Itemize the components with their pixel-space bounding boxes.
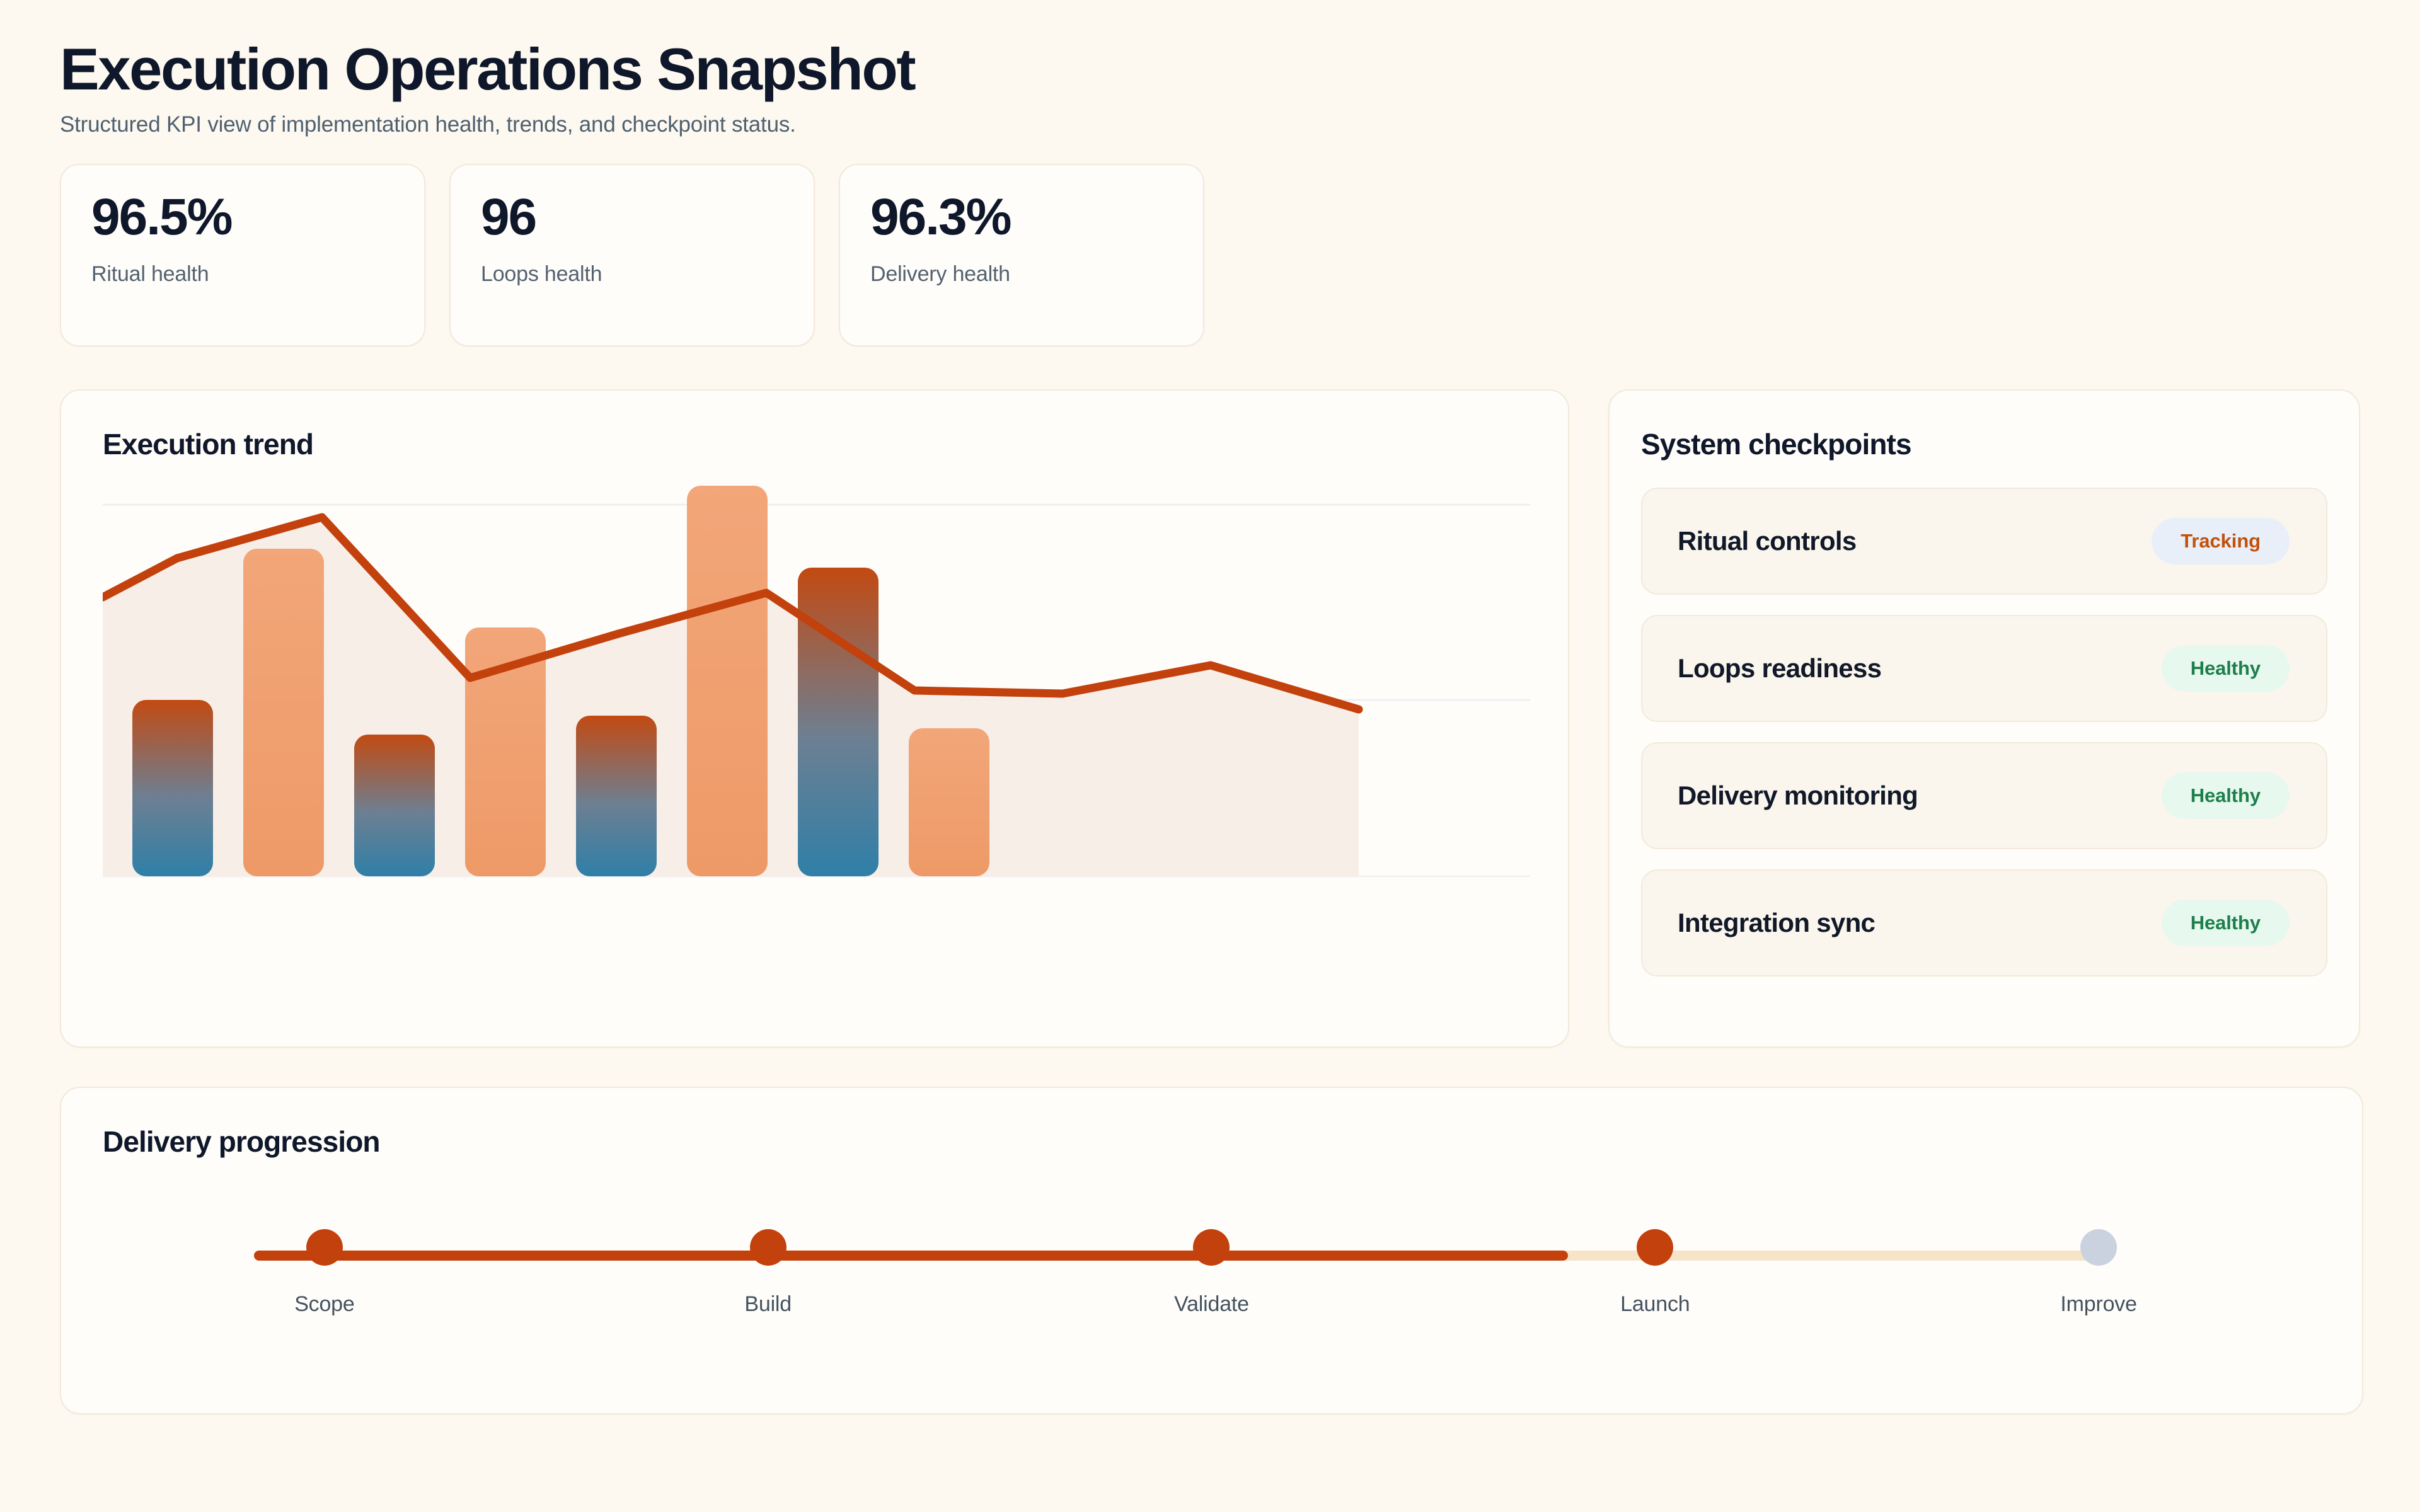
step-label: Build [744,1292,792,1317]
step-dot-pending-icon [2080,1229,2117,1266]
system-checkpoints-title: System checkpoints [1641,427,2327,461]
kpi-label: Delivery health [870,262,1173,287]
step-validate[interactable]: Validate [990,1229,1434,1317]
step-dot-complete-icon [306,1229,343,1266]
checkpoint-label: Integration sync [1678,908,1875,938]
status-badge: Tracking [2152,518,2290,564]
bar-3 [354,735,435,876]
status-badge: Healthy [2162,645,2290,692]
execution-trend-card: Execution trend [60,389,1569,1048]
page-title: Execution Operations Snapshot [60,38,2360,101]
step-label: Launch [1620,1292,1690,1317]
step-build[interactable]: Build [546,1229,990,1317]
kpi-value: 96.3% [870,192,1173,243]
kpi-value: 96 [481,192,783,243]
bar-5 [576,716,657,876]
bar-8 [909,728,989,876]
checkpoint-row-loops-readiness[interactable]: Loops readiness Healthy [1641,615,2327,722]
dashboard-page: Execution Operations Snapshot Structured… [0,0,2420,1414]
bar-7 [798,568,879,876]
execution-trend-title: Execution trend [103,427,1526,461]
checkpoint-list: Ritual controls Tracking Loops readiness… [1641,488,2327,976]
kpi-card-loops-health: 96 Loops health [449,164,815,346]
checkpoint-label: Ritual controls [1678,526,1857,556]
stepper-steps: Scope Build Validate Launch Improve [103,1229,2320,1317]
delivery-progression-card: Delivery progression Scope Build Validat… [60,1087,2363,1414]
page-subtitle: Structured KPI view of implementation he… [60,112,2360,137]
status-badge: Healthy [2162,772,2290,819]
step-launch[interactable]: Launch [1433,1229,1877,1317]
delivery-progression-title: Delivery progression [103,1125,2320,1159]
kpi-card-ritual-health: 96.5% Ritual health [60,164,425,346]
checkpoint-row-integration-sync[interactable]: Integration sync Healthy [1641,869,2327,976]
execution-trend-chart [103,483,1530,1018]
progression-stepper: Scope Build Validate Launch Improve [103,1229,2320,1349]
step-scope[interactable]: Scope [103,1229,546,1317]
bar-2 [243,549,324,876]
step-improve[interactable]: Improve [1877,1229,2320,1317]
step-label: Validate [1174,1292,1249,1317]
step-dot-complete-icon [1637,1229,1673,1266]
chart-svg [103,483,1530,1018]
kpi-row: 96.5% Ritual health 96 Loops health 96.3… [60,164,2360,346]
main-grid: Execution trend [60,389,2360,1048]
bar-1 [132,700,213,876]
status-badge: Healthy [2162,900,2290,946]
step-dot-complete-icon [750,1229,786,1266]
checkpoint-row-ritual-controls[interactable]: Ritual controls Tracking [1641,488,2327,595]
checkpoint-label: Delivery monitoring [1678,781,1918,811]
system-checkpoints-card: System checkpoints Ritual controls Track… [1608,389,2360,1048]
step-dot-complete-icon [1193,1229,1230,1266]
kpi-card-delivery-health: 96.3% Delivery health [839,164,1204,346]
kpi-value: 96.5% [91,192,394,243]
step-label: Improve [2060,1292,2136,1317]
step-label: Scope [294,1292,354,1317]
checkpoint-label: Loops readiness [1678,653,1881,684]
bar-6 [687,486,768,876]
kpi-label: Loops health [481,262,783,287]
kpi-label: Ritual health [91,262,394,287]
checkpoint-row-delivery-monitoring[interactable]: Delivery monitoring Healthy [1641,742,2327,849]
